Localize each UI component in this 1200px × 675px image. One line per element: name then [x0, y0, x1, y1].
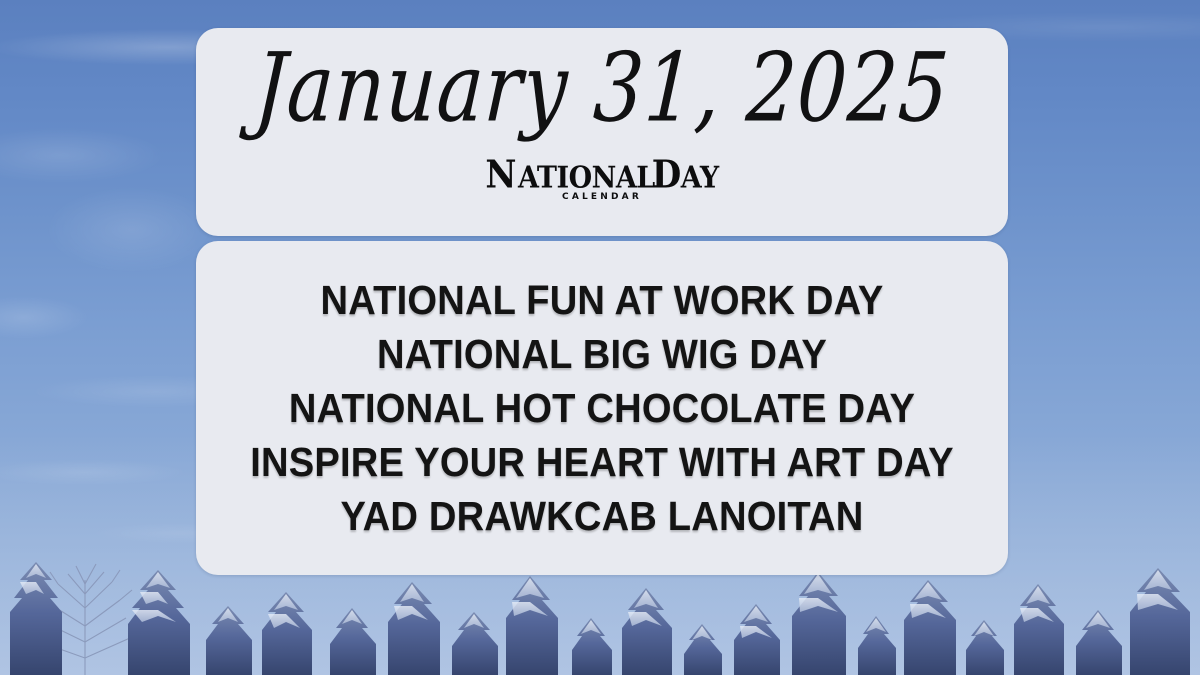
- logo-letter-n: N: [485, 156, 516, 194]
- observance-line: INSPIRE YOUR HEART WITH ART DAY: [224, 435, 979, 489]
- date-card: January 31, 2025 NATIONALDAY CALENDAR: [196, 28, 1008, 236]
- observance-line: YAD DRAWKCAB LANOITAN: [224, 489, 979, 543]
- logo-letter-d: D: [652, 156, 681, 194]
- logo-wordmark: NATIONALDAY: [485, 156, 718, 194]
- observances-card: NATIONAL FUN AT WORK DAYNATIONAL BIG WIG…: [196, 241, 1008, 575]
- logo-word-day: AY: [681, 163, 719, 193]
- observance-line: NATIONAL FUN AT WORK DAY: [224, 273, 979, 327]
- observance-list: NATIONAL FUN AT WORK DAYNATIONAL BIG WIG…: [224, 273, 979, 544]
- evergreen-trees: [10, 562, 1190, 675]
- logo-word-national: ATIONAL: [518, 163, 655, 193]
- poster-root: January 31, 2025 NATIONALDAY CALENDAR NA…: [0, 0, 1200, 675]
- page-title: January 31, 2025: [252, 41, 952, 136]
- observance-line: NATIONAL HOT CHOCOLATE DAY: [224, 381, 979, 435]
- national-day-calendar-logo: NATIONALDAY CALENDAR: [485, 158, 718, 202]
- observance-line: NATIONAL BIG WIG DAY: [224, 327, 979, 381]
